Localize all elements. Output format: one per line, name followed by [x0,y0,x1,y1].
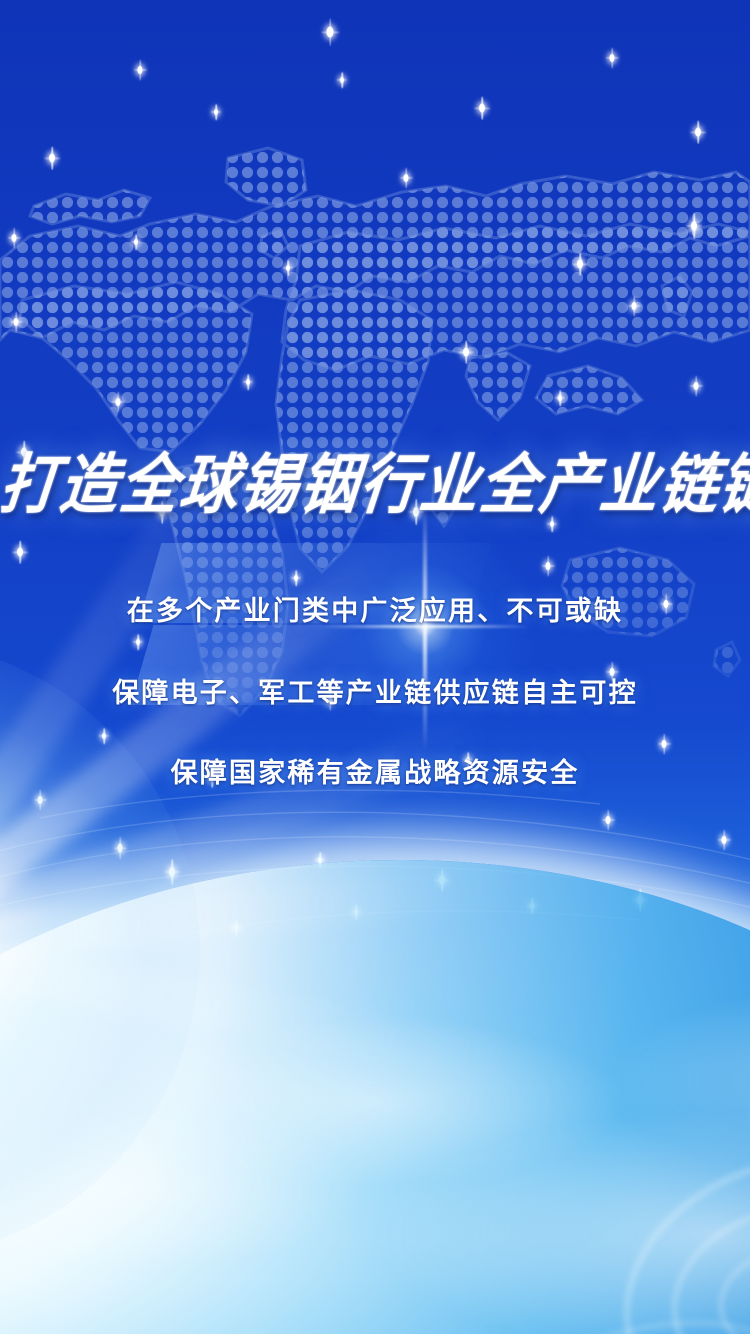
poster-content: 打造全球锡铟行业全产业链链主 在多个产业门类中广泛应用、不可或缺 保障电子、军工… [0,0,750,1334]
page-title: 打造全球锡铟行业全产业链链主 [0,452,750,520]
subtitle-line-1: 在多个产业门类中广泛应用、不可或缺 [0,589,750,628]
subtitle-line-2: 保障电子、军工等产业链供应链自主可控 [0,671,750,710]
subtitle-line-3: 保障国家稀有金属战略资源安全 [0,751,750,790]
poster-canvas: 打造全球锡铟行业全产业链链主 在多个产业门类中广泛应用、不可或缺 保障电子、军工… [0,0,750,1334]
